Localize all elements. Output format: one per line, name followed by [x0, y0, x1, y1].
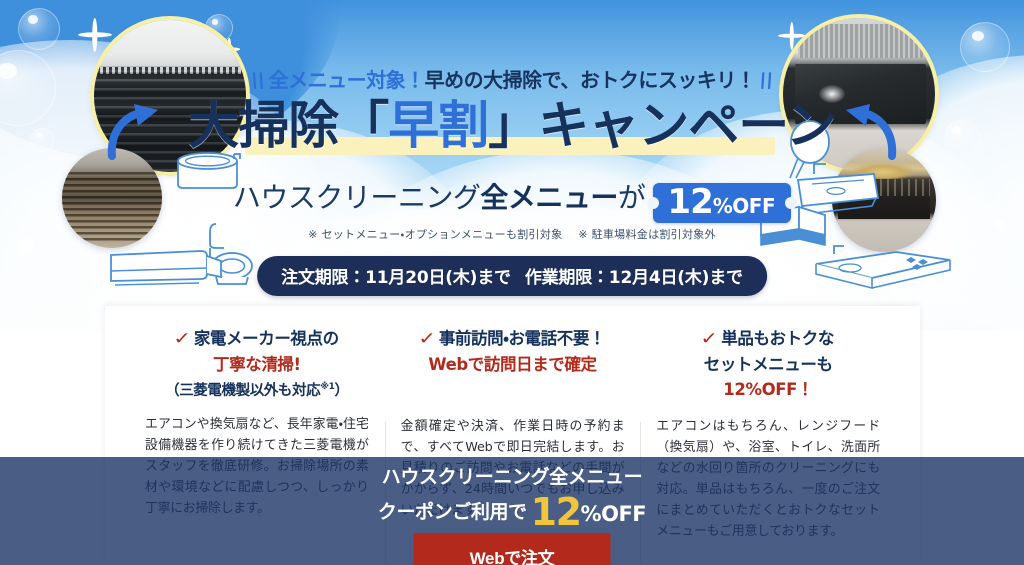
hero-section: \\全メニュー対象！早めの大掃除で、おトクにスッキリ！// 大掃除「早割」キャン… [0, 0, 1024, 330]
title-part-2: キャンペーン [538, 97, 835, 156]
sticky-discount-percent: %OFF [581, 502, 647, 526]
feature-3-heading-line3-text: 12%OFF！ [723, 380, 813, 399]
feature-2-heading-line2-text: Webで訪問日まで確定 [428, 355, 596, 374]
sticky-line-1: ハウスクリーニング全メニュー [0, 464, 1024, 490]
check-icon: ✓ [701, 327, 718, 352]
page-title: 大掃除「早割」キャンペーン [0, 99, 1024, 155]
kicker-slash-right: // [752, 68, 780, 92]
feature-2-heading-line2: Webで訪問日まで確定 [401, 352, 625, 377]
subline-part-2: が [618, 181, 646, 214]
bubble-decoration [18, 8, 60, 50]
title-highlight-word: 早割 [388, 97, 488, 156]
title-part-1: 大掃除 [188, 97, 338, 156]
subline-part-1: ハウスクリーニング [233, 181, 481, 214]
feature-3-heading-line1: 単品もおトクな [721, 329, 834, 348]
note-1: ※ セットメニュー・オプションメニューも割引対象 [308, 228, 562, 241]
feature-3-heading: ✓単品もおトクな セットメニューも 12%OFF！ [656, 326, 880, 402]
feature-3-heading-line3: 12%OFF！ [656, 377, 880, 402]
sticky-banner-inner: ハウスクリーニング全メニュー クーポンご利用で12%OFF Webで注文 [0, 457, 1024, 565]
hero-title-wrap: 大掃除「早割」キャンペーン [0, 99, 1024, 157]
promo-page: \\全メニュー対象！早めの大掃除で、おトクにスッキリ！// 大掃除「早割」キャン… [0, 0, 1024, 565]
subline-bold: 全メニュー [480, 181, 618, 214]
discount-number: 12 [667, 182, 712, 222]
sticky-coupon-text: クーポンご利用で [378, 501, 527, 523]
check-icon: ✓ [418, 327, 435, 352]
feature-1-heading-line2-text: 丁寧な清掃! [213, 355, 301, 374]
kicker-highlight: 全メニュー対象！ [269, 68, 425, 92]
discount-percent: %OFF [713, 194, 775, 218]
feature-1-subnote: （三菱電機製以外も対応※1） [145, 379, 369, 400]
note-2: ※ 駐車場料金は割引対象外 [578, 228, 716, 241]
feature-2-heading-line1: 事前訪問・お電話不要！ [439, 329, 605, 348]
title-quote-close: 」 [488, 97, 538, 156]
title-quote-open: 「 [338, 97, 388, 156]
feature-2-heading: ✓事前訪問・お電話不要！ Webで訪問日まで確定 [401, 326, 625, 377]
sticky-line-2: クーポンご利用で12%OFF [0, 490, 1024, 534]
hero-kicker: \\全メニュー対象！早めの大掃除で、おトクにスッキリ！// [0, 64, 1024, 93]
feature-1-heading: ✓家電メーカー視点の 丁寧な清掃! [145, 326, 369, 377]
order-deadline: 注文期限：11月20日(木)まで [281, 268, 511, 288]
feature-1-heading-line1: 家電メーカー視点の [194, 329, 339, 348]
feature-1-sub-sup: ※1 [320, 382, 334, 392]
kicker-text: 早めの大掃除で、おトクにスッキリ！ [425, 68, 756, 92]
feature-3-heading-line2: セットメニューも [656, 352, 880, 377]
work-deadline: 作業期限：12月4日(木)まで [525, 268, 743, 288]
feature-1-heading-line2: 丁寧な清掃! [145, 352, 369, 377]
sticky-discount-number: 12 [531, 490, 581, 534]
sticky-promo-banner: ハウスクリーニング全メニュー クーポンご利用で12%OFF Webで注文 [0, 457, 1024, 565]
check-icon: ✓ [173, 327, 190, 352]
discount-badge: 12%OFF [653, 183, 791, 223]
air-conditioner-icon [107, 247, 225, 289]
feature-1-sub-close: ） [334, 383, 348, 399]
hero-subline: ハウスクリーニング全メニューが12%OFF [0, 176, 1024, 223]
hero-notes: ※ セットメニュー・オプションメニューも割引対象 ※ 駐車場料金は割引対象外 [0, 226, 1024, 242]
kitchen-stove-icon [810, 244, 954, 296]
deadline-badge: 注文期限：11月20日(木)まで作業期限：12月4日(木)まで [257, 256, 767, 296]
kicker-slash-left: \\ [244, 68, 272, 92]
rangehood-fin-detail [798, 24, 923, 57]
web-order-button[interactable]: Webで注文 [414, 533, 611, 565]
feature-1-sub-text: （三菱電機製以外も対応 [165, 383, 320, 399]
